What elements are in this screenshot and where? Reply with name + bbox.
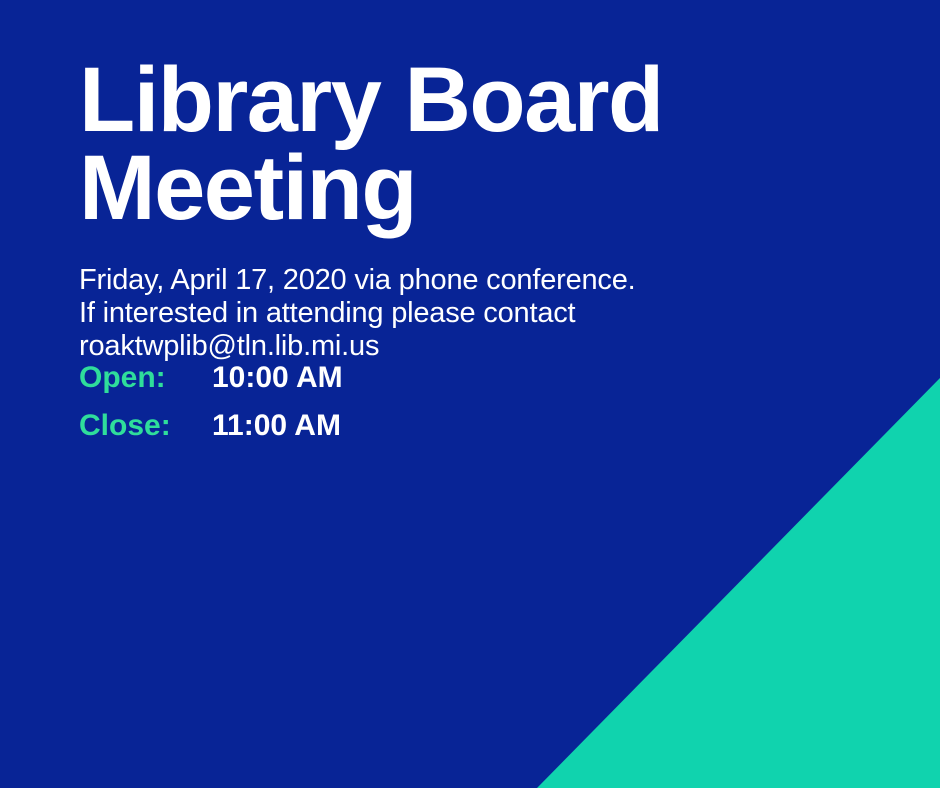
poster-canvas: Library BoardMeeting Friday, April 17, 2…	[0, 0, 940, 788]
poster-content: Library BoardMeeting Friday, April 17, 2…	[79, 0, 739, 441]
table-row: Open: 10:00 AM	[79, 363, 343, 411]
page-title-line-1: Library Board	[79, 49, 663, 151]
close-label: Close:	[79, 411, 212, 441]
close-time-value: 11:00 AM	[212, 411, 343, 441]
event-details-text: Friday, April 17, 2020 via phone confere…	[79, 232, 654, 363]
page-title-line-2: Meeting	[79, 137, 416, 239]
table-row: Close: 11:00 AM	[79, 411, 343, 441]
open-label: Open:	[79, 363, 212, 411]
hours-table: Open: 10:00 AM Close: 11:00 AM	[79, 363, 343, 441]
page-title: Library BoardMeeting	[79, 0, 719, 232]
open-time-value: 10:00 AM	[212, 363, 343, 411]
